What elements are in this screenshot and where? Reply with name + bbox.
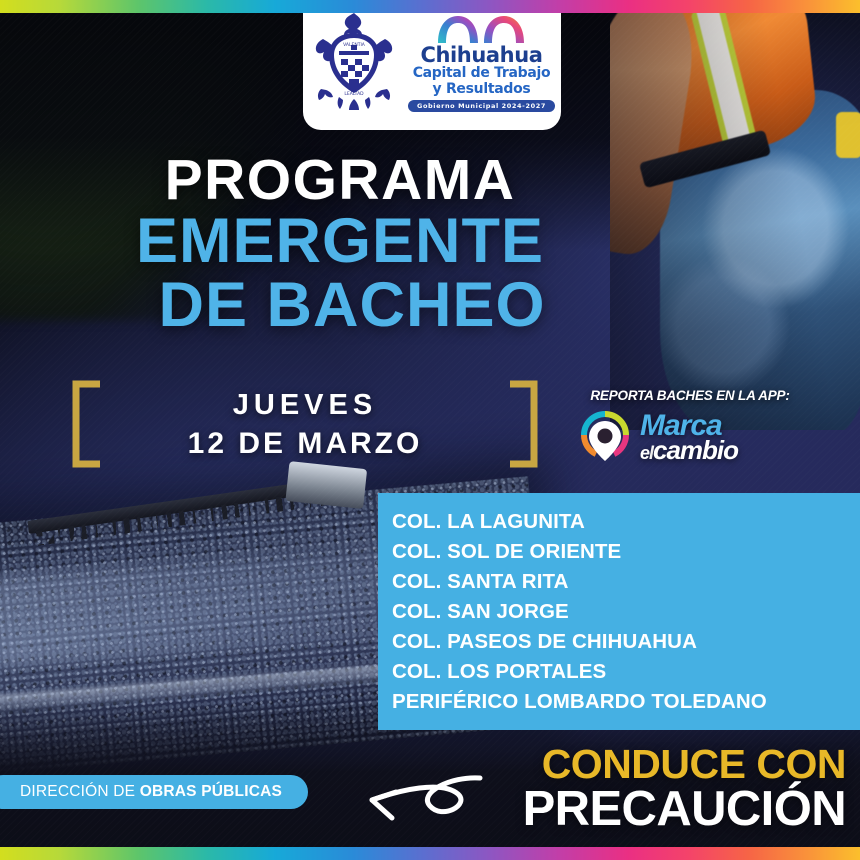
date-block: JUEVES 12 DE MARZO bbox=[70, 378, 540, 470]
brand-tagline-line1: Capital de Trabajo bbox=[413, 66, 551, 81]
marca-el-cambio-wordmark: Marca elcambio bbox=[640, 413, 738, 461]
chihuahua-arches-icon bbox=[434, 14, 530, 44]
chihuahua-coat-of-arms-icon: VALENTIA LEALTAD bbox=[313, 11, 395, 115]
headline-block: PROGRAMA EMERGENTE DE BACHEO bbox=[0, 152, 680, 338]
marca-el-cambio-logo[interactable]: Marca elcambio bbox=[570, 409, 810, 465]
department-name: OBRAS PÚBLICAS bbox=[140, 783, 282, 800]
government-period-label: Gobierno Municipal 2024-2027 bbox=[408, 100, 555, 112]
date-day-month: 12 DE MARZO bbox=[112, 426, 498, 462]
list-item: COL. LOS PORTALES bbox=[392, 657, 860, 687]
poster-canvas: VALENTIA LEALTAD Chihuahu bbox=[0, 0, 860, 860]
colonias-list-panel: COL. LA LAGUNITA COL. SOL DE ORIENTE COL… bbox=[378, 493, 860, 730]
chihuahua-brand-block: Chihuahua Capital de Trabajo y Resultado… bbox=[412, 14, 552, 111]
department-prefix: DIRECCIÓN DE bbox=[20, 783, 140, 800]
list-item: COL. SAN JORGE bbox=[392, 597, 860, 627]
rainbow-bar-top bbox=[0, 0, 860, 13]
caution-line-1: CONDUCE CON bbox=[523, 744, 846, 785]
brand-tagline: Capital de Trabajo y Resultados bbox=[413, 66, 551, 96]
map-pin-icon bbox=[578, 409, 632, 465]
brand-tagline-line2: y Resultados bbox=[413, 82, 551, 97]
el-cambio-word: elcambio bbox=[640, 439, 738, 461]
date-text: JUEVES 12 DE MARZO bbox=[106, 386, 504, 461]
curly-arrow-left-icon bbox=[330, 760, 500, 855]
app-promo-label: REPORTA BACHES EN LA APP: bbox=[570, 388, 810, 403]
brand-name: Chihuahua bbox=[420, 45, 542, 66]
department-badge: DIRECCIÓN DE OBRAS PÚBLICAS bbox=[0, 775, 308, 809]
rainbow-bar-bottom bbox=[0, 847, 860, 860]
list-item: COL. LA LAGUNITA bbox=[392, 507, 860, 537]
app-promo-block[interactable]: REPORTA BACHES EN LA APP: Marca elcambio bbox=[570, 388, 810, 465]
list-item: PERIFÉRICO LOMBARDO TOLEDANO bbox=[392, 687, 860, 717]
el-word: el bbox=[640, 443, 653, 463]
svg-text:VALENTIA: VALENTIA bbox=[343, 42, 366, 48]
list-item: COL. SOL DE ORIENTE bbox=[392, 537, 860, 567]
government-logo-badge: VALENTIA LEALTAD Chihuahu bbox=[303, 0, 561, 130]
headline-line-3: DE BACHEO bbox=[24, 273, 680, 337]
bracket-left-icon bbox=[70, 380, 106, 468]
cambio-word: cambio bbox=[653, 435, 738, 465]
bracket-right-icon bbox=[504, 380, 540, 468]
list-item: COL. PASEOS DE CHIHUAHUA bbox=[392, 627, 860, 657]
headline-line-2: EMERGENTE bbox=[0, 209, 680, 273]
date-weekday: JUEVES bbox=[112, 386, 498, 425]
headline-line-1: PROGRAMA bbox=[0, 152, 680, 209]
list-item: COL. SANTA RITA bbox=[392, 567, 860, 597]
caution-line-2: PRECAUCIÓN bbox=[523, 785, 846, 834]
svg-text:LEALTAD: LEALTAD bbox=[344, 91, 364, 97]
caution-message: CONDUCE CON PRECAUCIÓN bbox=[523, 744, 846, 834]
